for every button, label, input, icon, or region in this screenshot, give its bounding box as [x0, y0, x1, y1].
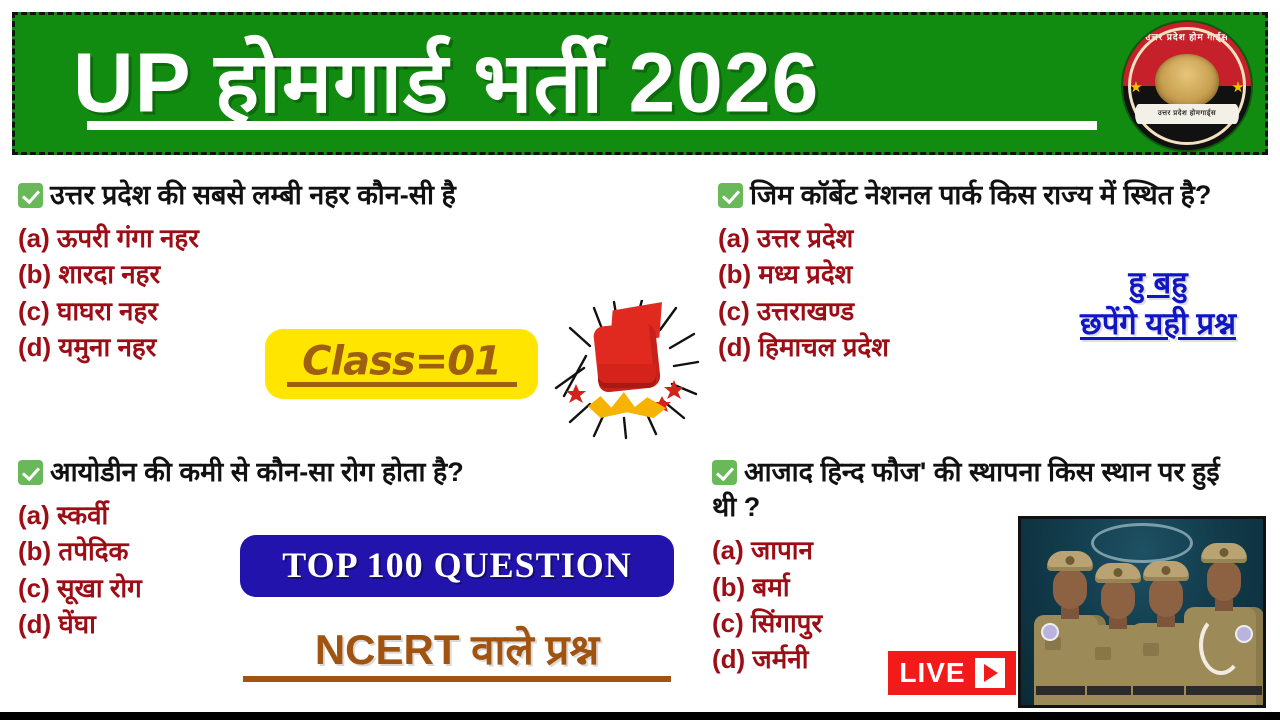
title-underline	[87, 121, 1097, 130]
guard-shoulder-badge	[1041, 623, 1059, 641]
play-icon[interactable]	[975, 658, 1005, 688]
class-number-badge: Class=01	[265, 329, 538, 399]
guard-face	[1207, 561, 1241, 601]
promo-line-2: छपेंगे यही प्रश्न	[1040, 303, 1276, 344]
question-1-label: उत्तर प्रदेश की सबसे लम्बी नहर कौन-सी है	[50, 180, 456, 210]
promo-line-1: हु बहु	[1040, 262, 1276, 303]
green-check-icon	[18, 460, 43, 485]
fist-knuckles	[598, 364, 656, 388]
guard-pocket	[1143, 643, 1159, 656]
raised-red-fist-icon	[550, 300, 700, 440]
top-100-label: TOP 100 QUESTION	[240, 544, 674, 586]
emblem-scroll-text: उत्तर प्रदेश होमगार्ड्स	[1135, 104, 1239, 124]
option-c[interactable]: (c) घाघरा नहर	[18, 293, 618, 329]
question-3-label: आयोडीन की कमी से कौन-सा रोग होता है?	[50, 457, 464, 487]
guard-face	[1053, 569, 1087, 609]
emblem-ring	[1128, 27, 1246, 145]
class-badge-underline	[287, 382, 517, 387]
exam-promo-text: हु बहु छपेंगे यही प्रश्न	[1040, 262, 1276, 344]
page-title: UP होमगार्ड भर्ती 2026	[73, 40, 1103, 124]
green-check-icon	[712, 460, 737, 485]
guard-pocket	[1095, 647, 1111, 660]
question-1-text: उत्तर प्रदेश की सबसे लम्बी नहर कौन-सी है	[18, 178, 598, 213]
guard-face	[1149, 577, 1183, 617]
bottom-black-bar	[0, 712, 1280, 720]
guard-shoulder-badge	[1235, 625, 1253, 643]
option-a[interactable]: (a) स्कर्वी	[18, 497, 618, 533]
live-badge[interactable]: LIVE	[888, 651, 1016, 695]
question-3-text: आयोडीन की कमी से कौन-सा रोग होता है?	[18, 455, 598, 490]
top-100-question-badge: TOP 100 QUESTION	[240, 535, 674, 597]
ncert-label: NCERT वाले प्रश्न	[243, 628, 671, 672]
ncert-underline	[243, 676, 671, 682]
question-2-label: जिम कॉर्बेट नेशनल पार्क किस राज्य में स्…	[750, 180, 1211, 210]
live-label: LIVE	[899, 659, 965, 687]
guard-cap	[1201, 543, 1247, 563]
guard-figure	[1183, 533, 1265, 705]
question-2-text: जिम कॉर्बेट नेशनल पार्क किस राज्य में स्…	[718, 178, 1278, 213]
class-badge-label: Class=01	[265, 339, 538, 385]
option-a[interactable]: (a) उत्तर प्रदेश	[718, 220, 1278, 256]
green-check-icon	[718, 183, 743, 208]
play-triangle	[984, 664, 998, 682]
home-guard-personnel-photo	[1018, 516, 1266, 708]
option-a[interactable]: (a) ऊपरी गंगा नहर	[18, 220, 618, 256]
thumbnail-canvas: UP होमगार्ड भर्ती 2026 उत्तर प्रदेश होम …	[0, 0, 1280, 720]
green-check-icon	[18, 183, 43, 208]
option-b[interactable]: (b) शारदा नहर	[18, 256, 618, 292]
question-4-text: आजाद हिन्द फौज' की स्थापना किस स्थान पर …	[712, 455, 1242, 525]
header-banner: UP होमगार्ड भर्ती 2026 उत्तर प्रदेश होम …	[12, 12, 1268, 155]
up-home-guard-emblem-icon: उत्तर प्रदेश होम गार्ड्स उत्तर प्रदेश हो…	[1123, 22, 1251, 150]
guard-belt	[1186, 686, 1262, 695]
guard-lanyard	[1199, 615, 1243, 675]
question-4-label: आजाद हिन्द फौज' की स्थापना किस स्थान पर …	[712, 457, 1220, 522]
ncert-questions-label-block: NCERT वाले प्रश्न	[243, 628, 671, 682]
